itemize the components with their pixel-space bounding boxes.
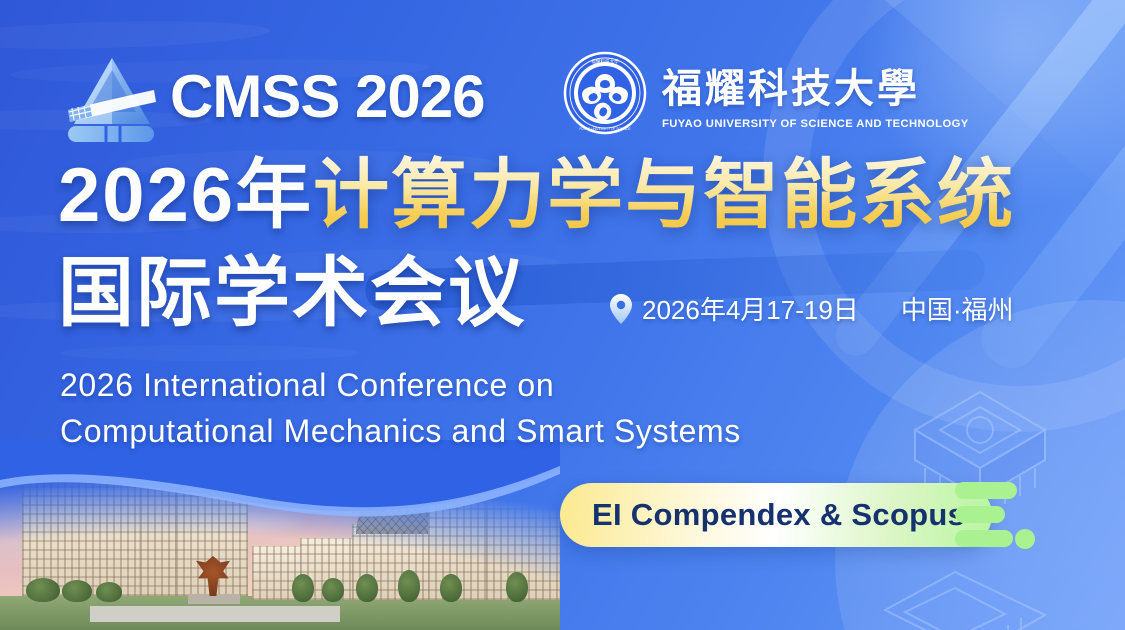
conference-location: 中国·福州: [901, 290, 1014, 327]
university-name-en: FUYAO UNIVERSITY OF SCIENCE AND TECHNOLO…: [662, 118, 969, 130]
conference-meta: 2026年4月17-19日 中国·福州: [610, 290, 1013, 327]
conference-title-english: 2026 International Conference on Computa…: [60, 362, 741, 455]
title-topic: 计算力学与智能系统: [313, 153, 1015, 238]
conference-title-line2: 国际学术会议: [58, 256, 526, 332]
svg-text:FUYAO UNIVERSITY OF SCIENCE: FUYAO UNIVERSITY OF SCIENCE: [579, 127, 630, 131]
indexing-badge: EI Compendex & Scopus: [560, 483, 992, 547]
indexing-badge-label: EI Compendex & Scopus: [592, 497, 965, 533]
conference-dates: 2026年4月17-19日: [642, 290, 859, 327]
english-title-line1: 2026 International Conference on: [60, 362, 741, 408]
conference-banner: CMSS 2026 福耀科技大學 FUYAO UNIVERSITY OF S: [0, 0, 1125, 630]
university-logo: 福耀科技大學 FUYAO UNIVERSITY OF SCIENCE 福耀科技大…: [562, 50, 963, 136]
e-bars-dot-decoration-icon: [955, 478, 1035, 554]
university-name-cn: 福耀科技大學: [662, 56, 963, 114]
campus-photo: [0, 440, 560, 630]
cmss-triangle-bridge-logo-icon: [62, 50, 162, 142]
svg-text:福耀科技大學: 福耀科技大學: [591, 58, 619, 65]
fuyao-university-seal-icon: 福耀科技大學 FUYAO UNIVERSITY OF SCIENCE: [562, 50, 648, 136]
location-pin-icon: [610, 294, 632, 324]
title-year: 2026年: [58, 153, 313, 238]
photo-plaza: [90, 606, 340, 622]
conference-acronym: CMSS 2026: [170, 62, 485, 131]
conference-header: CMSS 2026: [62, 50, 485, 142]
isometric-chip-bottom-icon: [845, 560, 1075, 630]
english-title-line2: Computational Mechanics and Smart System…: [60, 408, 741, 454]
conference-title-line1: 2026年计算力学与智能系统: [58, 158, 1015, 234]
